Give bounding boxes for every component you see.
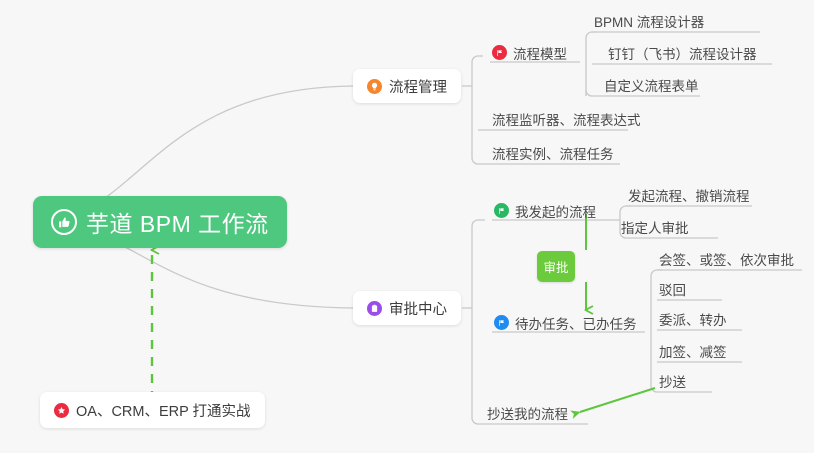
node-start-cancel-process[interactable]: 发起流程、撤销流程 (626, 186, 752, 206)
flag-icon (494, 203, 509, 218)
label-add-remove-sign: 加签、减签 (659, 341, 727, 361)
node-process-listener-expression[interactable]: 流程监听器、流程表达式 (490, 110, 643, 130)
flag-icon (494, 315, 509, 330)
label-start-cancel-process: 发起流程、撤销流程 (628, 185, 750, 205)
node-cc-my-process[interactable]: 抄送我的流程 (485, 404, 570, 424)
node-assignee-approval[interactable]: 指定人审批 (619, 218, 691, 238)
label-assignee-approval: 指定人审批 (621, 217, 689, 237)
node-countersign-orsign-sequential[interactable]: 会签、或签、依次审批 (657, 250, 796, 270)
branch-node-process-management[interactable]: 流程管理 (353, 69, 461, 103)
annotation-tag-approval-label: 审批 (544, 257, 569, 276)
trunk-cap-top-pm (472, 56, 483, 62)
trunk-cap-top-pmodel (586, 32, 597, 56)
trunk-cap-top-ac (472, 220, 485, 226)
bottom-node-label: OA、CRM、ERP 打通实战 (76, 400, 251, 421)
label-cc: 抄送 (659, 371, 686, 391)
node-custom-process-form[interactable]: 自定义流程表单 (602, 76, 701, 96)
annotation-tag-approval[interactable]: 审批 (537, 251, 575, 282)
mindmap-canvas: 芋道 BPM 工作流 流程管理 流程模型 BPMN 流程设计器 钉钉（飞书）流程… (0, 0, 814, 453)
node-reject[interactable]: 驳回 (657, 280, 688, 300)
node-my-initiated-process[interactable]: 我发起的流程 (492, 202, 598, 222)
root-node[interactable]: 芋道 BPM 工作流 (33, 196, 287, 248)
branch-node-approval-center[interactable]: 审批中心 (353, 291, 461, 325)
label-todo-done-task: 待办任务、已办任务 (515, 313, 637, 333)
label-reject: 驳回 (659, 279, 686, 299)
label-countersign-orsign-sequential: 会签、或签、依次审批 (659, 249, 794, 269)
label-bpmn-designer: BPMN 流程设计器 (594, 11, 704, 31)
thumbs-up-icon (51, 209, 77, 235)
bottom-node-integration[interactable]: OA、CRM、ERP 打通实战 (40, 392, 265, 428)
node-dingtalk-feishu-designer[interactable]: 钉钉（飞书）流程设计器 (606, 44, 759, 64)
arrow-cc-to-cc-my-process (580, 388, 655, 412)
root-label: 芋道 BPM 工作流 (86, 205, 269, 239)
label-dingtalk-feishu-designer: 钉钉（飞书）流程设计器 (608, 43, 757, 63)
node-process-instance-task[interactable]: 流程实例、流程任务 (490, 144, 616, 164)
label-process-instance-task: 流程实例、流程任务 (492, 143, 614, 163)
node-delegate-transfer[interactable]: 委派、转办 (657, 310, 729, 330)
label-my-initiated-process: 我发起的流程 (515, 201, 596, 221)
node-todo-done-task[interactable]: 待办任务、已办任务 (492, 314, 639, 334)
node-add-remove-sign[interactable]: 加签、减签 (657, 342, 729, 362)
node-cc[interactable]: 抄送 (657, 372, 688, 392)
lightbulb-icon (367, 79, 382, 94)
branch-label-process-management: 流程管理 (389, 76, 447, 97)
flag-icon (492, 45, 507, 60)
label-delegate-transfer: 委派、转办 (659, 309, 727, 329)
clipboard-icon (367, 301, 382, 316)
label-process-listener-expression: 流程监听器、流程表达式 (492, 109, 641, 129)
label-custom-process-form: 自定义流程表单 (604, 75, 699, 95)
label-process-model: 流程模型 (513, 43, 567, 63)
star-icon (54, 403, 69, 418)
branch-label-approval-center: 审批中心 (389, 298, 447, 319)
node-bpmn-designer[interactable]: BPMN 流程设计器 (592, 12, 706, 32)
node-process-model[interactable]: 流程模型 (490, 44, 569, 64)
label-cc-my-process: 抄送我的流程 (487, 403, 568, 423)
trunk-cap-td (651, 270, 662, 276)
